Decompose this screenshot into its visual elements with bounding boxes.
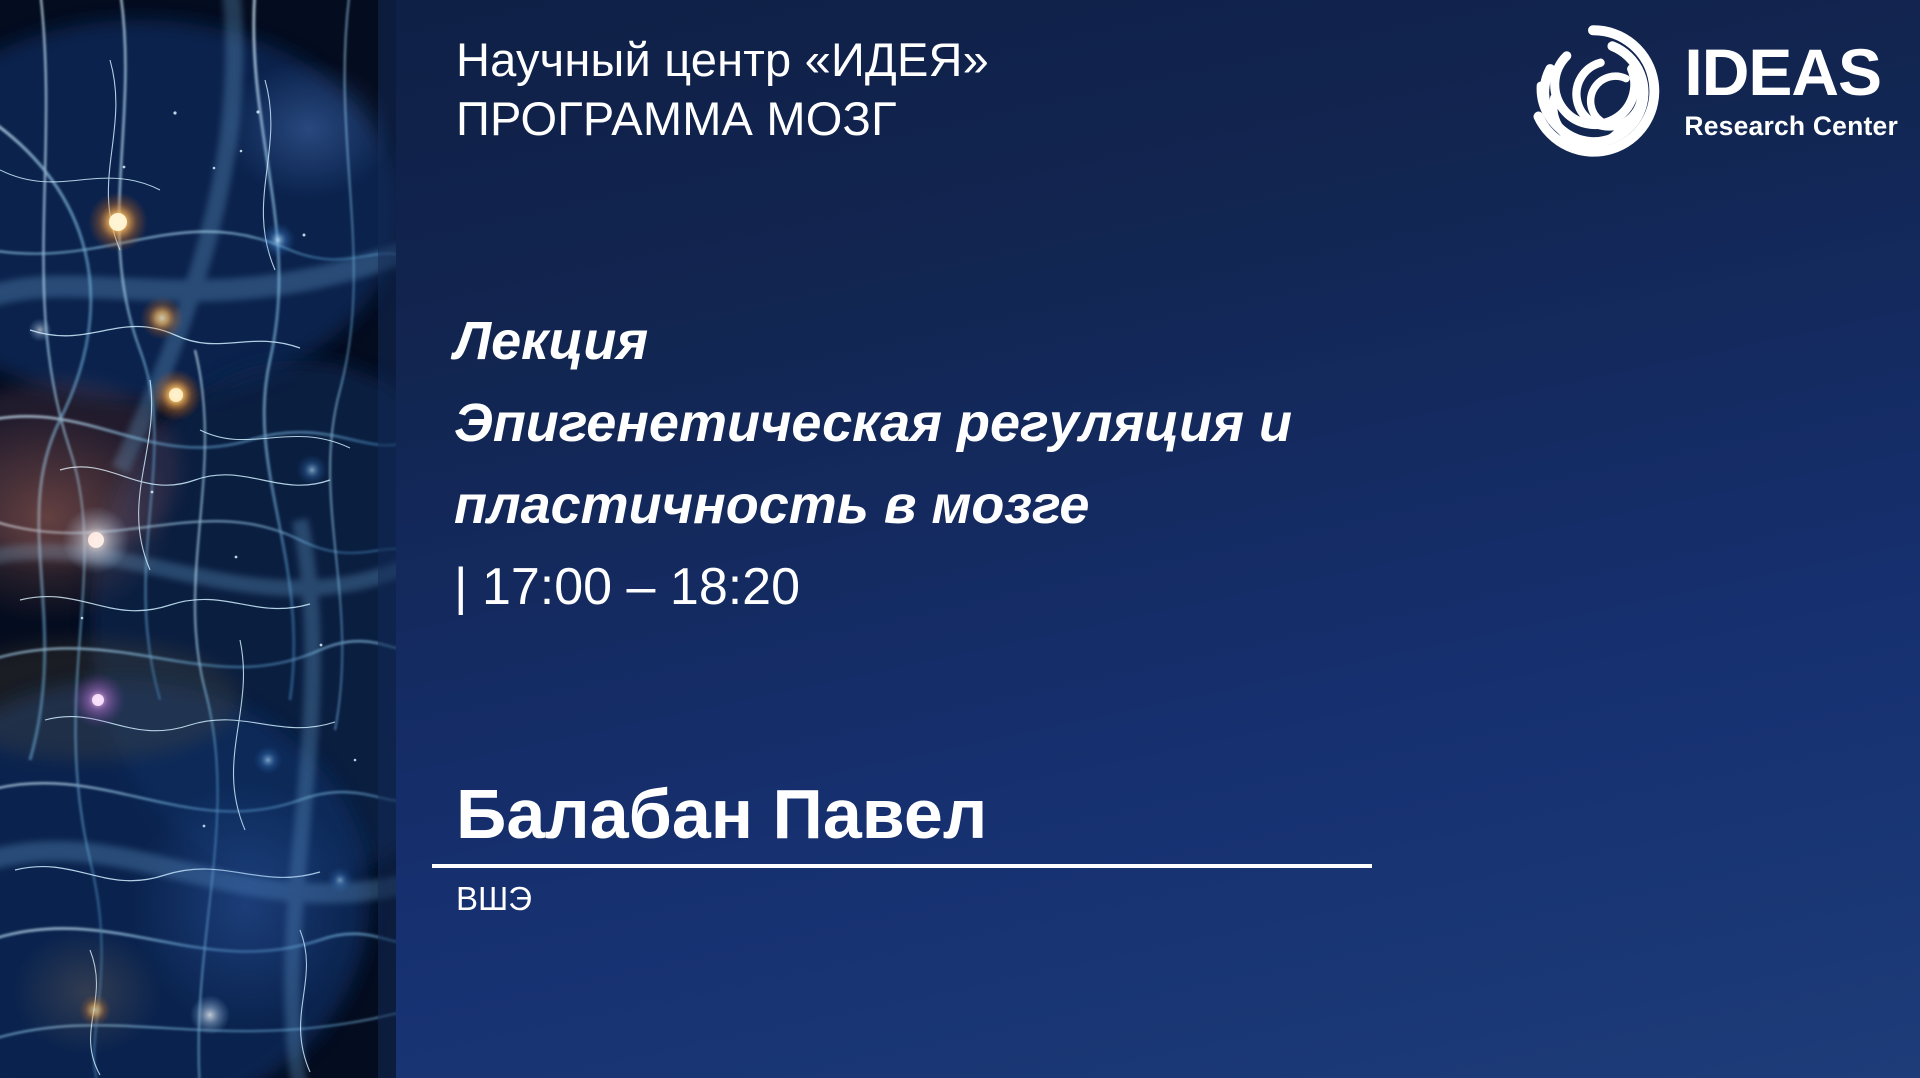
program-name: ПРОГРАММА МОЗГ (456, 89, 1256, 148)
speaker-organization: ВШЭ (432, 876, 1412, 922)
lecture-time: | 17:00 – 18:20 (454, 548, 1454, 626)
center-name: Научный центр «ИДЕЯ» (456, 30, 1256, 89)
program-header: Научный центр «ИДЕЯ» ПРОГРАММА МОЗГ (456, 30, 1256, 148)
lecture-title-line-1: Эпигенетическая регуляция и (454, 382, 1454, 464)
logo-title: IDEAS (1684, 39, 1898, 105)
neuron-network-illustration (0, 0, 396, 1078)
speaker-block: Балабан Павел ВШЭ (432, 768, 1412, 922)
lecture-block: Лекция Эпигенетическая регуляция и пласт… (454, 300, 1454, 626)
ideas-research-center-logo: IDEAS Research Center (1524, 22, 1898, 160)
logo-subtitle: Research Center (1684, 109, 1898, 143)
speaker-divider-rule (432, 864, 1372, 868)
lecture-title-line-2: пластичность в мозге (454, 464, 1454, 546)
lecture-kicker: Лекция (454, 300, 1454, 382)
slide-content: Научный центр «ИДЕЯ» ПРОГРАММА МОЗГ IDEA… (396, 0, 1920, 1078)
lecture-announcement-slide: Научный центр «ИДЕЯ» ПРОГРАММА МОЗГ IDEA… (0, 0, 1920, 1078)
ideas-spiral-swirl-icon (1524, 22, 1662, 160)
neuron-network-svg (0, 0, 396, 1078)
logo-wordmark: IDEAS Research Center (1684, 39, 1898, 143)
speaker-name: Балабан Павел (432, 768, 1412, 860)
